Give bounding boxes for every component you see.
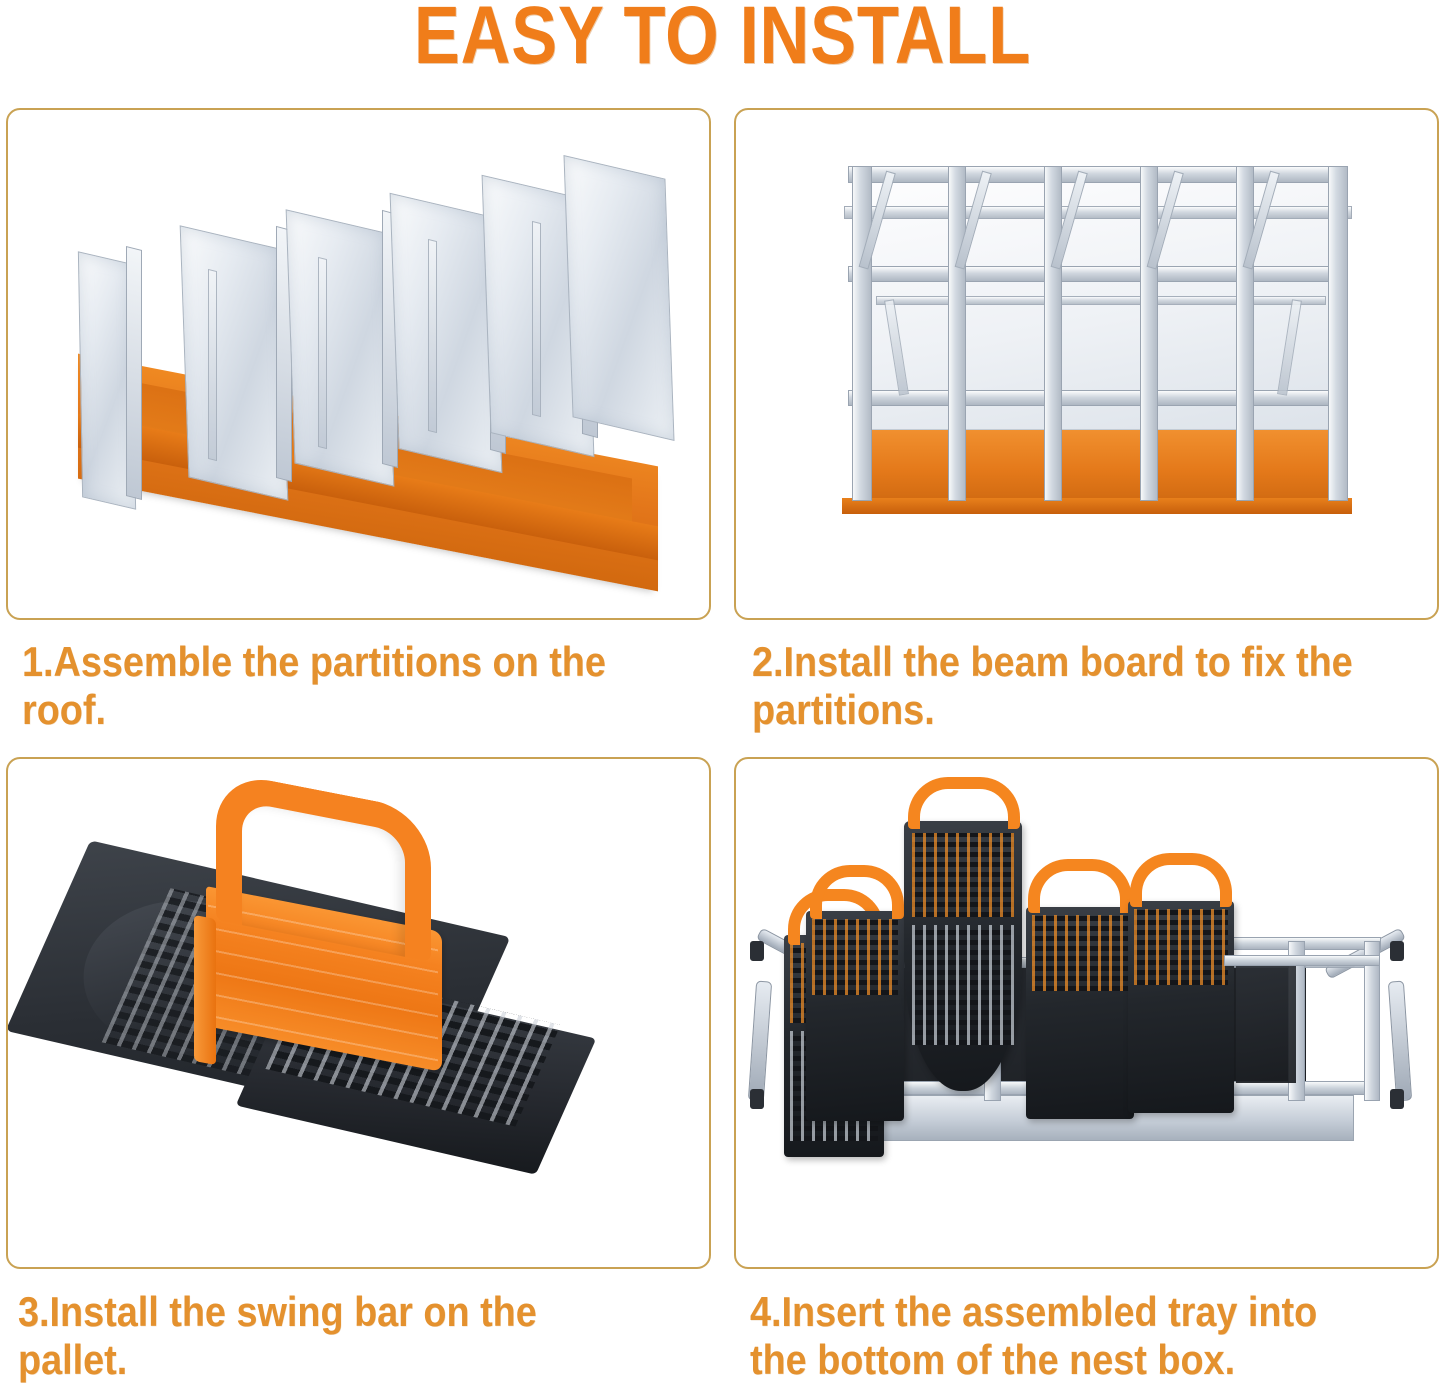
partition-brace-b bbox=[428, 239, 437, 433]
step-4-panel-frame bbox=[734, 757, 1439, 1269]
partition-panel-3 bbox=[286, 209, 395, 486]
partition-post-5 bbox=[1236, 166, 1254, 501]
tray-1-perforations-lower bbox=[912, 925, 1014, 1045]
front-top-rail bbox=[844, 206, 1352, 219]
step-3-caption: 3.Install the swing bar on the pallet. bbox=[18, 1288, 648, 1384]
cage-right-top-edge bbox=[1224, 955, 1380, 966]
left-arm-rest-leg bbox=[748, 981, 772, 1102]
step-3-panel-frame bbox=[6, 757, 711, 1269]
partition-post-1 bbox=[852, 166, 872, 501]
step-2-caption: 2.Install the beam board to fix the part… bbox=[752, 638, 1382, 734]
partition-post-2 bbox=[948, 166, 966, 501]
step-4-caption: 4.Insert the assembled tray into the bot… bbox=[750, 1288, 1380, 1384]
step-4-illustration bbox=[736, 759, 1437, 1267]
nest-box-orange-base bbox=[854, 428, 1344, 506]
empty-compartment-panel bbox=[1236, 965, 1296, 1083]
partition-post-4 bbox=[1140, 166, 1158, 501]
tray-3-perforations bbox=[812, 919, 898, 995]
step-2-illustration bbox=[736, 110, 1437, 618]
right-arm-rest-tip bbox=[1390, 941, 1404, 961]
partition-edge-6 bbox=[208, 269, 217, 461]
steps-grid: 1.Assemble the partitions on the roof. bbox=[0, 0, 1445, 1387]
right-arm-rest-cap bbox=[1390, 1089, 1404, 1109]
tray-2-handle bbox=[1028, 859, 1132, 913]
partition-panel-2 bbox=[180, 225, 289, 500]
tray-2-perforations bbox=[1032, 915, 1128, 991]
swing-bar-hinge-tab bbox=[194, 915, 216, 1065]
tray-5-handle bbox=[1130, 853, 1232, 907]
step-1-caption: 1.Assemble the partitions on the roof. bbox=[22, 638, 652, 734]
step-1-image-panel bbox=[6, 108, 711, 620]
right-arm-rest-leg bbox=[1388, 981, 1412, 1102]
step-1-panel-frame bbox=[6, 108, 711, 620]
tray-1-perforations bbox=[912, 833, 1014, 917]
mid-cross-rail bbox=[876, 296, 1326, 305]
step-1-illustration bbox=[8, 110, 709, 618]
nest-box-orange-base-lip bbox=[842, 498, 1352, 514]
step-2-image-panel bbox=[734, 108, 1439, 620]
tray-1-handle bbox=[908, 777, 1020, 829]
step-3-illustration bbox=[8, 759, 709, 1267]
tray-3-handle bbox=[810, 865, 904, 919]
tray-5-perforations bbox=[1134, 909, 1228, 985]
beam-board-lower bbox=[848, 390, 1348, 406]
partition-panel-6 bbox=[563, 155, 674, 441]
step-4-image-panel bbox=[734, 757, 1439, 1269]
step-2-panel-frame bbox=[734, 108, 1439, 620]
partition-post-3 bbox=[1044, 166, 1062, 501]
step-3-image-panel bbox=[6, 757, 711, 1269]
partition-edge-1 bbox=[126, 246, 142, 500]
partition-brace-a bbox=[318, 257, 327, 449]
left-arm-rest-tip bbox=[750, 941, 764, 961]
partition-post-6 bbox=[1328, 166, 1348, 501]
left-arm-rest-cap bbox=[750, 1089, 764, 1109]
beam-board-upper bbox=[848, 266, 1348, 282]
partition-brace-c bbox=[532, 221, 541, 417]
